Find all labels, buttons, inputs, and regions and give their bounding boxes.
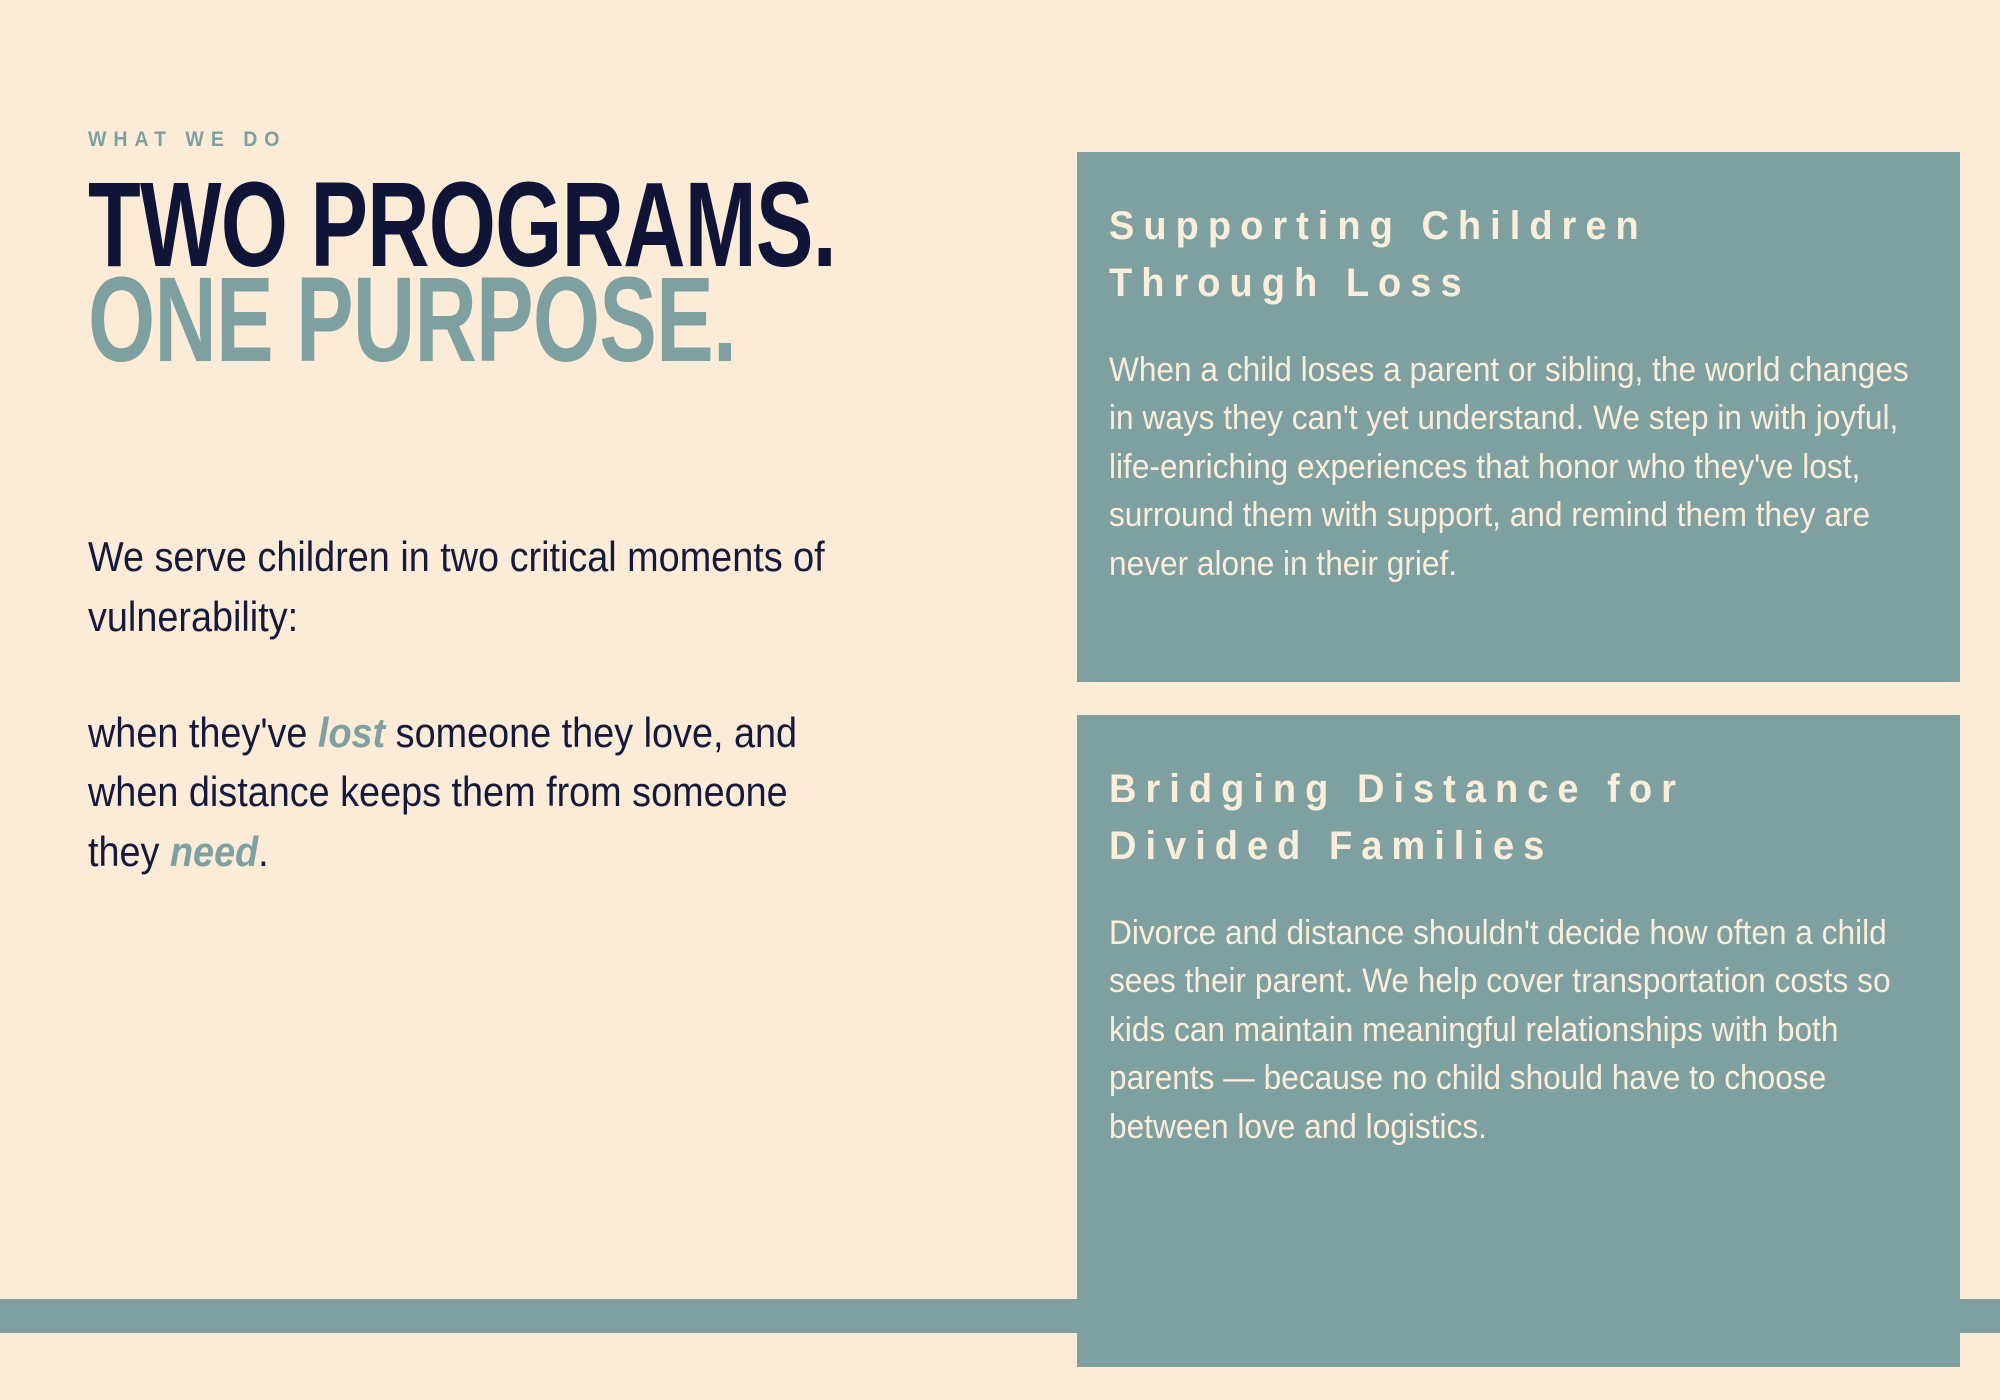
accent-word-need: need bbox=[170, 828, 258, 875]
eyebrow-label: WHAT WE DO bbox=[88, 128, 925, 152]
headline-line-two: ONE PURPOSE. bbox=[88, 269, 808, 371]
detail-paragraph: when they've lost someone they love, and… bbox=[88, 703, 862, 882]
program-card-heading: Bridging Distance for Divided Families bbox=[1109, 761, 1874, 875]
program-card-heading: Supporting Children Through Loss bbox=[1109, 198, 1874, 312]
bottom-accent-bar bbox=[0, 1299, 2000, 1333]
left-content-column: WHAT WE DO TWO PROGRAMS. ONE PURPOSE. We… bbox=[88, 128, 988, 882]
accent-word-lost: lost bbox=[318, 709, 385, 756]
program-cards-column: Supporting Children Through Loss When a … bbox=[1077, 152, 1960, 1400]
slide-canvas: WHAT WE DO TWO PROGRAMS. ONE PURPOSE. We… bbox=[0, 0, 2000, 1333]
program-card-supporting-children: Supporting Children Through Loss When a … bbox=[1077, 152, 1960, 682]
detail-text-part-three: . bbox=[258, 828, 269, 875]
program-card-bridging-distance: Bridging Distance for Divided Families D… bbox=[1077, 715, 1960, 1367]
intro-paragraph: We serve children in two critical moment… bbox=[88, 527, 862, 646]
detail-text-part-one: when they've bbox=[88, 709, 318, 756]
program-card-body: When a child loses a parent or sibling, … bbox=[1109, 346, 1927, 589]
program-card-body: Divorce and distance shouldn't decide ho… bbox=[1109, 909, 1927, 1152]
